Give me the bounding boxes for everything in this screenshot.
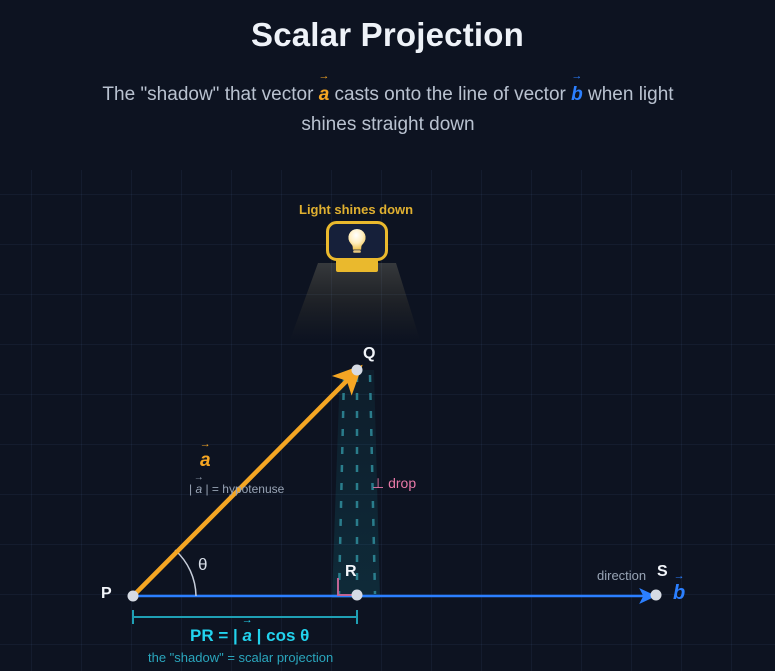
subtitle-text-2: casts onto the line of vector [329,84,571,105]
page-title: Scalar Projection [0,16,775,54]
subtitle-vector-b: →b [571,84,583,105]
angle-arc [175,550,196,596]
formula-symbol: a [242,626,251,645]
header: Scalar Projection The "shadow" that vect… [0,0,775,170]
note-suffix: | = hypotenuse [202,482,284,496]
vector-b-label: →b [673,582,685,605]
vector-arrow-icon: → [571,71,582,82]
light-cone [290,263,420,340]
vector-a-letter: a [200,450,211,471]
vector-arrow-icon: → [674,571,685,582]
subtitle-vector-a: →a [319,84,330,105]
point-r-dot [352,590,363,601]
diagram-canvas: Light shines down P Q R S θ ⊥ drop →a | … [0,170,775,671]
perpendicular-drop-label: ⊥ drop [372,475,416,492]
point-q-dot [352,365,363,376]
formula-suffix: | cos θ [252,626,309,645]
vector-a-magnitude-note: | →a | = hypotenuse [189,482,284,496]
point-r-label: R [345,563,357,581]
vector-arrow-icon: → [242,615,253,626]
vector-a-label: →a [200,450,211,472]
subtitle-vector-a-letter: a [319,84,330,105]
vector-arrow-icon: → [200,439,211,450]
subtitle-vector-b-letter: b [571,84,583,105]
formula-prefix: PR = | [190,626,242,645]
point-s-label: S [657,563,668,581]
point-q-label: Q [363,345,375,363]
point-p-dot [128,591,139,602]
page-subtitle: The "shadow" that vector →a casts onto t… [88,80,688,140]
vector-arrow-icon: → [194,473,204,483]
projection-formula: PR = | →a | cos θ [190,626,309,646]
vector-arrow-icon: → [318,71,329,82]
scalar-projection-figure: Scalar Projection The "shadow" that vect… [0,0,775,671]
subtitle-text-1: The "shadow" that vector [102,84,318,105]
point-s-dot [651,590,662,601]
lamp-caption: Light shines down [299,202,413,217]
angle-theta-label: θ [198,555,207,575]
diagram-vector-layer [0,170,775,671]
projection-formula-caption: the "shadow" = scalar projection [148,650,333,665]
vector-b-letter: b [673,582,685,604]
direction-label: direction [597,568,646,583]
point-p-label: P [101,585,112,603]
note-symbol: a [195,482,202,496]
